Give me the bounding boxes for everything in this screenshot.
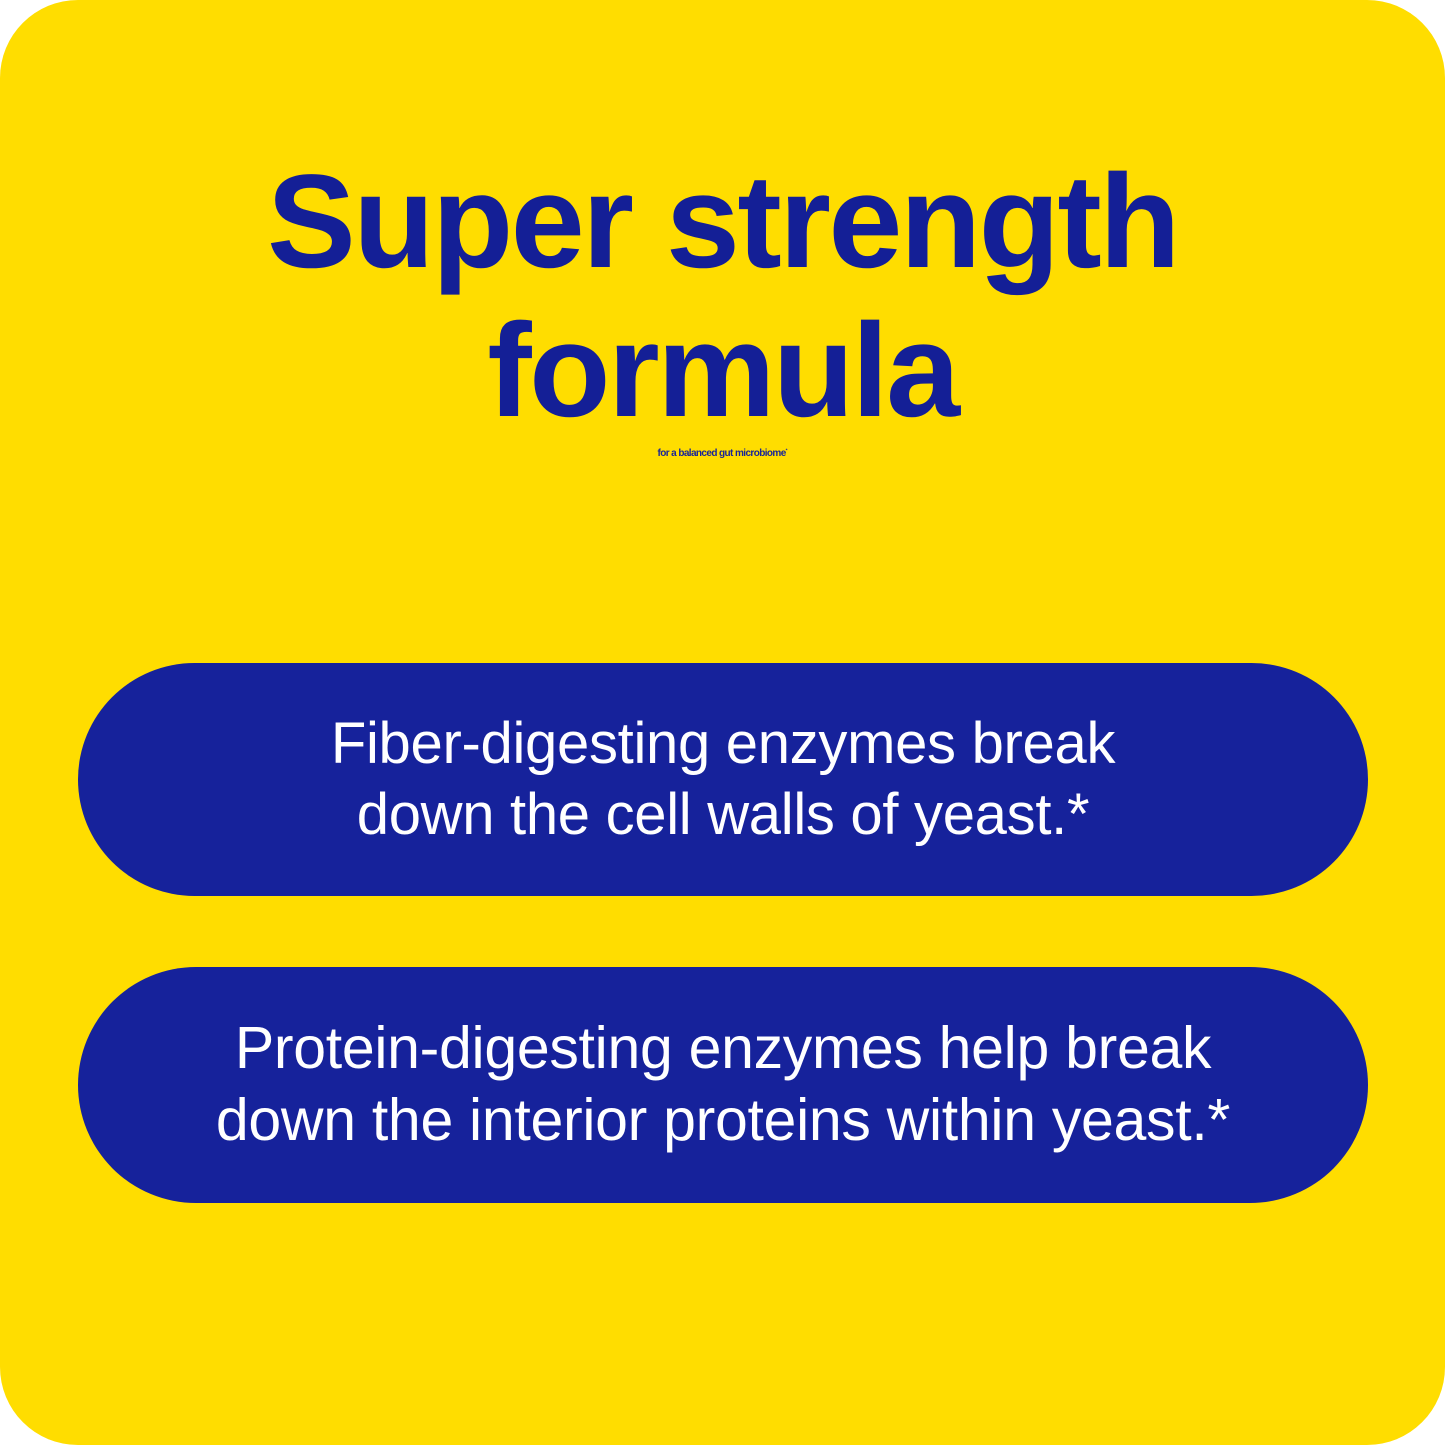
benefit-pill-fiber-text: Fiber-digesting enzymes break down the c… [331,709,1115,851]
subtitle-text: for a balanced gut microbiome [657,448,785,459]
benefit-pill-fiber-line-2: down the cell walls of yeast.* [331,780,1115,851]
benefit-pill-protein-line-1: Protein-digesting enzymes help break [216,1013,1230,1085]
headline-line-2: formula [0,297,1445,446]
benefit-pill-protein-line-2: down the interior proteins within yeast.… [216,1085,1230,1157]
headline-line-1: Super strength [0,148,1445,297]
benefit-pill-fiber-line-1: Fiber-digesting enzymes break [331,709,1115,780]
benefit-pill-protein: Protein-digesting enzymes help break dow… [78,967,1368,1203]
page-title: Super strength formula [0,148,1445,446]
benefit-pill-fiber: Fiber-digesting enzymes break down the c… [78,663,1368,896]
page-subtitle: for a balanced gut microbiome* [0,448,1445,459]
promo-card: Super strength formula for a balanced gu… [0,0,1445,1445]
footnote-asterisk: * [786,449,788,454]
benefit-pill-protein-text: Protein-digesting enzymes help break dow… [216,1013,1230,1157]
